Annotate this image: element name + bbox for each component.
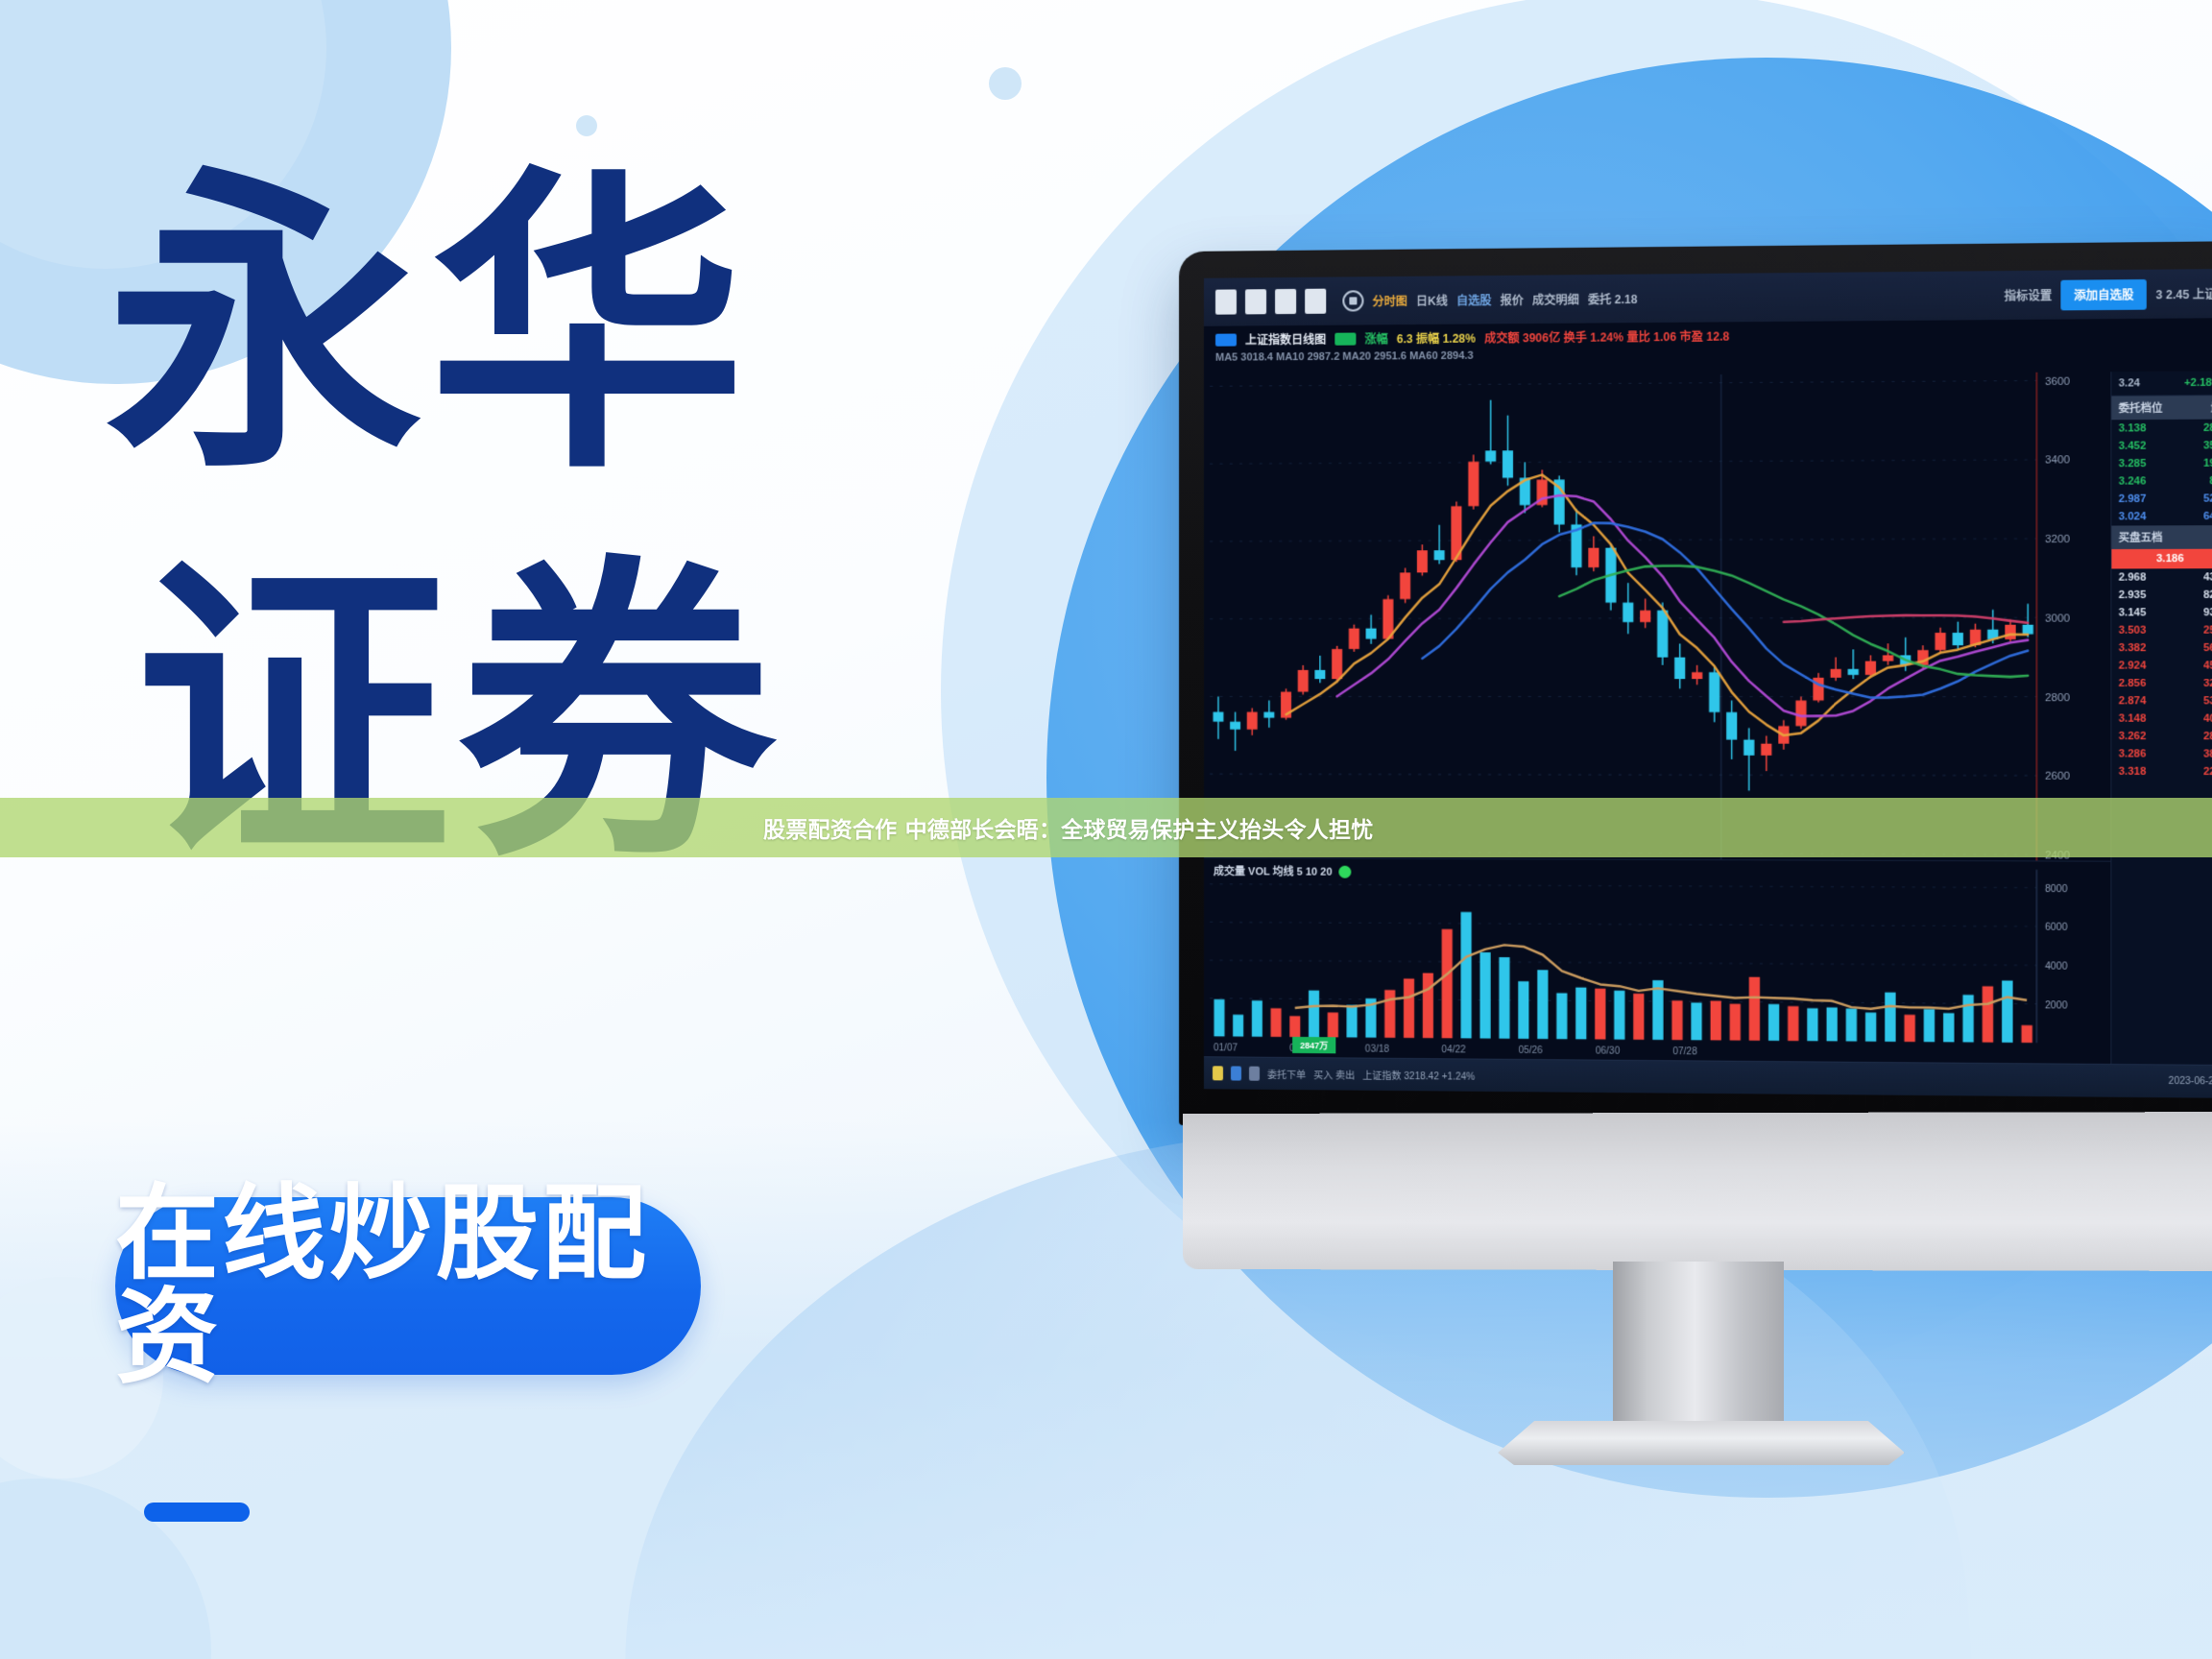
order-book-volume: 225: [2203, 766, 2212, 778]
chart-column: 2400260028003000320034003600 成交量 VOL 均线 …: [1204, 372, 2110, 1064]
accent-dash: [144, 1503, 250, 1522]
refresh-icon[interactable]: [1342, 290, 1363, 311]
order-book-volume: 645: [2203, 511, 2212, 522]
svg-text:6000: 6000: [2045, 923, 2068, 933]
app-toolbar: 分时图 日K线 自选股 报价 成交明细 委托 2.18 指标设置 添加自选股 3…: [1204, 269, 2212, 326]
status-trade-label[interactable]: 买入 卖出: [1313, 1067, 1355, 1081]
order-book-price: 3.382: [2119, 642, 2147, 654]
order-book-row: 3.285199: [2111, 454, 2212, 472]
order-book-price: 3.138: [2119, 422, 2147, 434]
order-book-row: 3.138288: [2111, 420, 2212, 438]
order-book-volume: 199: [2203, 458, 2212, 469]
toolbar-item-daily-k[interactable]: 日K线: [1416, 292, 1448, 308]
order-book-last-price: 3.186: [2111, 549, 2212, 569]
quote-strip: 上证指数日线图 涨幅 6.3 振幅 1.28% 成交额 3906亿 换手 1.2…: [1204, 318, 2212, 378]
svg-text:3000: 3000: [2045, 613, 2070, 624]
order-book-volume: 385: [2203, 748, 2212, 759]
order-book-price: 3.503: [2119, 625, 2147, 637]
toolbar-item-trade-details[interactable]: 成交明细: [1532, 291, 1579, 308]
svg-text:2600: 2600: [2045, 771, 2070, 782]
order-book-price: 3.285: [2119, 458, 2147, 469]
toolbar-square-icon[interactable]: [1245, 289, 1266, 314]
monitor-stand-foot: [1498, 1421, 1905, 1465]
order-book-price: 3.318: [2119, 766, 2147, 778]
monitor-stand-neck: [1613, 1262, 1784, 1432]
svg-text:2000: 2000: [2045, 1000, 2068, 1011]
order-book-row: 3.382563: [2111, 639, 2212, 658]
headline-text: 股票配资合作 中德部长会晤：全球贸易保护主义抬头令人担忧: [763, 811, 1373, 844]
volume-title: 成交量 VOL 均线 5 10 20: [1214, 863, 1333, 879]
order-book-volume: 538: [2203, 695, 2212, 707]
order-book-row: 2.874538: [2111, 692, 2212, 709]
order-book-ask-rows: 3.1382883.4523523.2851993.24688: [2111, 420, 2212, 491]
order-book-volume: 325: [2203, 678, 2212, 689]
order-book-volume: 829: [2203, 589, 2212, 601]
cta-button[interactable]: 在线炒股配资: [115, 1197, 701, 1375]
order-book-price: 3.148: [2119, 713, 2147, 725]
order-book-row: 3.318225: [2111, 763, 2212, 781]
monitor-chin: [1183, 1112, 2212, 1271]
toolbar-square-icon[interactable]: [1215, 289, 1237, 314]
order-book-price: 2.874: [2119, 695, 2147, 707]
status-order-icon[interactable]: [1231, 1066, 1241, 1080]
x-axis-tick: 01/07: [1214, 1043, 1238, 1053]
order-book-row: 2.968430: [2111, 568, 2212, 587]
order-book-price: 2.856: [2119, 678, 2147, 689]
order-book-panel[interactable]: 3.24 +2.18% 委托档位 量 3.1382883.4523523.285…: [2110, 371, 2212, 1065]
order-book-price: 3.246: [2119, 475, 2147, 487]
status-warning-icon[interactable]: [1213, 1066, 1223, 1080]
order-book-volume: 288: [2203, 422, 2212, 434]
order-book-row: 3.286385: [2111, 745, 2212, 763]
status-order-label[interactable]: 委托下单: [1267, 1067, 1306, 1081]
order-book-row: 2.935829: [2111, 587, 2212, 605]
order-book-price: 3.024: [2119, 511, 2147, 522]
quote-stats: 成交额 3906亿 换手 1.24% 量比 1.06 市盈 12.8: [1484, 327, 1729, 346]
status-info: 上证指数 3218.42 +1.24%: [1362, 1068, 1475, 1083]
order-book-row: 2.987523: [2111, 490, 2212, 508]
order-book-row: 3.24688: [2111, 472, 2212, 491]
toolbar-square-icon[interactable]: [1275, 289, 1296, 314]
quote-line-ma: MA5 3018.4 MA10 2987.2 MA20 2951.6 MA60 …: [1215, 345, 2212, 364]
change-chip-icon: [1334, 333, 1356, 346]
order-book-header-bid: 买盘五档: [2111, 525, 2212, 549]
order-book-price: 2.968: [2119, 571, 2147, 583]
svg-text:8000: 8000: [2045, 884, 2068, 895]
order-book-row: 2.924452: [2111, 657, 2212, 674]
poster-stage: 永华 证券 在线炒股配资 分时图 日K线: [0, 0, 2212, 1659]
order-book-row: 3.262289: [2111, 728, 2212, 746]
x-axis-tick: 03/18: [1365, 1044, 1389, 1054]
order-book-volume: 352: [2203, 440, 2212, 451]
order-book-row: 3.503252: [2111, 621, 2212, 639]
order-book-volume: 931: [2203, 607, 2212, 618]
toolbar-item-minute-chart[interactable]: 分时图: [1373, 292, 1407, 308]
status-spacer: [1482, 1075, 2160, 1081]
order-book-change: +2.18%: [2184, 377, 2212, 390]
quote-change-label: 涨幅: [1365, 330, 1388, 347]
order-book-mid-rows: 2.9875233.024645: [2111, 490, 2212, 525]
order-book-row: 2.856325: [2111, 675, 2212, 692]
candlestick-chart[interactable]: 2400260028003000320034003600: [1204, 372, 2110, 861]
svg-text:2800: 2800: [2045, 692, 2070, 704]
order-book-price: 3.452: [2119, 441, 2147, 452]
order-book-volume: 252: [2203, 624, 2212, 636]
monitor: 分时图 日K线 自选股 报价 成交明细 委托 2.18 指标设置 添加自选股 3…: [1179, 252, 2212, 1317]
order-book-top: 3.24 +2.18%: [2111, 371, 2212, 396]
quote-line-primary: 上证指数日线图 涨幅 6.3 振幅 1.28% 成交额 3906亿 换手 1.2…: [1215, 324, 2212, 348]
order-book-volume: 452: [2203, 660, 2212, 671]
app-body: 2400260028003000320034003600 成交量 VOL 均线 …: [1204, 371, 2212, 1065]
toolbar-item-watchlist[interactable]: 自选股: [1456, 292, 1491, 308]
order-book-bid-label: 买盘五档: [2119, 529, 2163, 544]
index-chip-icon: [1215, 334, 1237, 347]
order-book-volume: 430: [2203, 571, 2212, 583]
svg-text:3600: 3600: [2045, 375, 2070, 388]
order-book-volume: 563: [2203, 642, 2212, 654]
toolbar-indicator-settings[interactable]: 指标设置: [2005, 286, 2053, 303]
order-book-price: 3.145: [2119, 607, 2147, 618]
add-watchlist-button[interactable]: 添加自选股: [2061, 278, 2147, 309]
order-book-price: 3.262: [2119, 731, 2147, 742]
volume-highlight-tag: 2847万: [1292, 1037, 1335, 1053]
brand-name-line-1: 永华: [106, 168, 752, 485]
svg-text:3400: 3400: [2045, 455, 2070, 468]
volume-header: 成交量 VOL 均线 5 10 20: [1214, 863, 1352, 879]
order-book-header-ask: 委托档位 量: [2111, 396, 2212, 420]
toolbar-spacer: [1647, 296, 1996, 299]
candlestick-svg: 2400260028003000320034003600: [1204, 372, 2110, 861]
toolbar-square-icon[interactable]: [1305, 289, 1326, 314]
svg-text:4000: 4000: [2045, 962, 2068, 973]
order-book-volume: 523: [2203, 493, 2212, 504]
cta-button-label: 在线炒股配资: [115, 1183, 701, 1390]
x-axis-tick: 05/26: [1519, 1045, 1543, 1055]
volume-chart[interactable]: 成交量 VOL 均线 5 10 20 2000400060008000 2847…: [1204, 857, 2110, 1064]
headline-band: 股票配资合作 中德部长会晤：全球贸易保护主义抬头令人担忧: [0, 798, 2212, 857]
order-book-row: 3.148405: [2111, 709, 2212, 727]
order-book-neutral-rows: 2.9684302.9358293.145931: [2111, 568, 2212, 621]
volume-svg: 2000400060008000: [1204, 858, 2110, 1064]
toolbar-corner-label: 3 2.45 上证: [2156, 285, 2212, 302]
quote-index-name: 上证指数日线图: [1245, 331, 1326, 349]
status-date: 2023-06-28: [2169, 1076, 2212, 1088]
volume-status-dot-icon: [1339, 865, 1352, 878]
order-book-row: 3.452352: [2111, 437, 2212, 455]
order-book-header-label: 委托档位: [2119, 400, 2163, 417]
monitor-screen: 分时图 日K线 自选股 报价 成交明细 委托 2.18 指标设置 添加自选股 3…: [1204, 269, 2212, 1098]
order-book-code: 3.24: [2119, 377, 2140, 389]
status-grid-icon[interactable]: [1249, 1067, 1260, 1081]
x-axis-tick: 06/30: [1596, 1046, 1620, 1056]
quote-amplitude: 6.3 振幅 1.28%: [1397, 330, 1476, 348]
svg-text:3200: 3200: [2045, 534, 2070, 546]
order-book-row: 3.024645: [2111, 508, 2212, 526]
order-book-price: 3.286: [2119, 748, 2147, 759]
toolbar-item-orders[interactable]: 委托 2.18: [1588, 290, 1638, 307]
x-axis-tick: 04/22: [1442, 1045, 1466, 1055]
x-axis-tick: 07/28: [1672, 1046, 1697, 1057]
monitor-bezel: 分时图 日K线 自选股 报价 成交明细 委托 2.18 指标设置 添加自选股 3…: [1179, 241, 2212, 1136]
order-book-price: 2.924: [2119, 660, 2147, 671]
order-book-volume: 289: [2203, 731, 2212, 742]
order-book-price: 2.987: [2119, 493, 2147, 505]
toolbar-item-quotes[interactable]: 报价: [1501, 291, 1524, 307]
order-book-row: 3.145931: [2111, 604, 2212, 622]
trading-app: 分时图 日K线 自选股 报价 成交明细 委托 2.18 指标设置 添加自选股 3…: [1204, 269, 2212, 1098]
quote-ma-values: MA5 3018.4 MA10 2987.2 MA20 2951.6 MA60 …: [1215, 350, 1474, 364]
order-book-volume: 405: [2203, 713, 2212, 725]
order-book-price: 2.935: [2119, 589, 2147, 601]
